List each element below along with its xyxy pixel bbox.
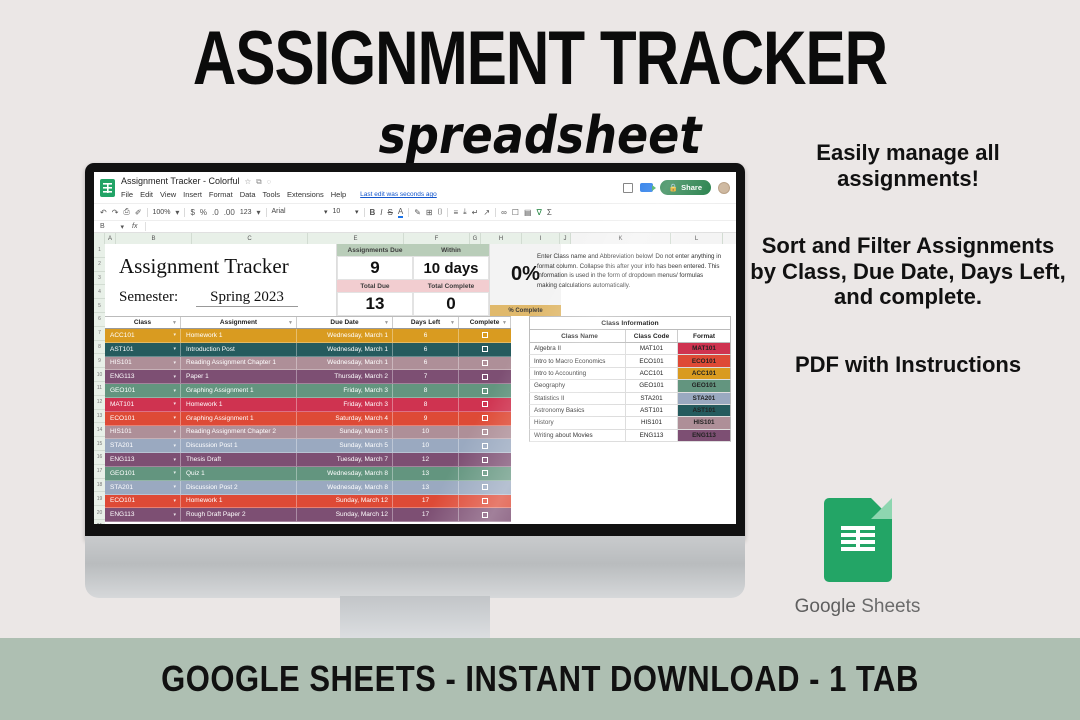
cell-complete[interactable] bbox=[459, 398, 511, 412]
row-number[interactable]: 8 bbox=[94, 341, 105, 355]
cell-assignment[interactable]: Introduction Post bbox=[181, 343, 297, 357]
zoom-level[interactable]: 100% bbox=[153, 209, 171, 216]
cell-due-date[interactable]: Saturday, March 4 bbox=[297, 412, 393, 426]
column-header-c[interactable]: C bbox=[192, 233, 308, 244]
menu-item-extensions[interactable]: Extensions bbox=[287, 190, 324, 199]
dropdown-caret-icon[interactable]: ▾ bbox=[173, 484, 176, 490]
cell-class-name[interactable]: Geography bbox=[530, 380, 626, 391]
cell-days-left: 6 bbox=[393, 329, 459, 343]
cell-complete[interactable] bbox=[459, 357, 511, 371]
cell-format-swatch: AST101 bbox=[678, 405, 730, 416]
cell-due-date[interactable]: Friday, March 3 bbox=[297, 384, 393, 398]
filter-icon[interactable]: ▼ bbox=[288, 320, 293, 326]
hero-header: ASSIGNMENT TRACKER spreadsheet bbox=[0, 0, 1080, 162]
cell-class-name[interactable]: Statistics II bbox=[530, 393, 626, 404]
cell-format-swatch: ACC101 bbox=[678, 368, 730, 379]
print-icon[interactable]: ⎙ bbox=[123, 207, 129, 217]
row-number-gutter: 1 2 3 4 5 6 7 8 9 10 11 12 13 14 bbox=[94, 244, 105, 524]
cell-assignment[interactable]: Rough Draft Paper 2 bbox=[181, 508, 297, 522]
dropdown-caret-icon[interactable]: ▾ bbox=[173, 332, 176, 338]
google-sheets-brand: Google Sheets bbox=[755, 498, 960, 618]
row-number[interactable]: 9 bbox=[94, 354, 105, 368]
cell-due-date[interactable]: Wednesday, March 1 bbox=[297, 357, 393, 371]
marketing-line-3: PDF with Instructions bbox=[748, 352, 1068, 378]
row-number[interactable]: 5 bbox=[94, 299, 105, 313]
cell-assignment[interactable]: Graphing Assignment 1 bbox=[181, 412, 297, 426]
cell-class-code[interactable]: GEO101 bbox=[626, 380, 678, 391]
text-rotation-icon[interactable]: ↗ bbox=[483, 208, 490, 217]
dropdown-caret-icon[interactable]: ▾ bbox=[173, 346, 176, 352]
column-header-class[interactable]: Class ▼ bbox=[105, 317, 181, 328]
font-size-value: 10 bbox=[333, 208, 341, 216]
paint-format-icon[interactable]: ✐ bbox=[135, 208, 142, 217]
decrease-decimal-icon[interactable]: .0 bbox=[212, 208, 219, 217]
header-label: Due Date bbox=[330, 319, 358, 326]
star-icon[interactable]: ☆ bbox=[245, 176, 252, 187]
cell-days-left: 17 bbox=[393, 508, 459, 522]
row-number[interactable]: 7 bbox=[94, 327, 105, 341]
row-number[interactable]: 4 bbox=[94, 285, 105, 299]
table-row[interactable]: GEO101▾Graphing Assignment 1Friday, Marc… bbox=[105, 384, 511, 398]
column-headers: A B C E F G H I J K L M bbox=[94, 233, 736, 244]
checkbox[interactable] bbox=[482, 443, 488, 449]
font-size-select[interactable]: 10 ▾ bbox=[333, 208, 359, 216]
cell-due-date[interactable]: Wednesday, March 1 bbox=[297, 329, 393, 343]
cell-complete[interactable] bbox=[459, 370, 511, 384]
number-format-menu[interactable]: 123 bbox=[240, 209, 252, 216]
monitor-bezel: Assignment Tracker - Colorful ☆ ⧉ ◌ File… bbox=[85, 163, 745, 540]
cell-class-text: ENG113 bbox=[110, 456, 134, 463]
stat-label: Within bbox=[413, 244, 489, 256]
cell-days-left: 9 bbox=[393, 412, 459, 426]
cell-complete[interactable] bbox=[459, 467, 511, 481]
filter-icon[interactable]: ▼ bbox=[502, 320, 507, 326]
checkbox[interactable] bbox=[482, 415, 488, 421]
cell-due-date[interactable]: Thursday, March 2 bbox=[297, 370, 393, 384]
row-number[interactable]: 21 bbox=[94, 520, 105, 524]
cell-complete[interactable] bbox=[459, 412, 511, 426]
dropdown-caret-icon[interactable]: ▾ bbox=[173, 388, 176, 394]
cell-class-name[interactable]: History bbox=[530, 417, 626, 428]
percent-icon[interactable]: % bbox=[200, 208, 207, 217]
google-sheets-wordmark: Google Sheets bbox=[755, 596, 960, 618]
italic-icon[interactable]: I bbox=[380, 208, 382, 217]
vertical-align-icon[interactable]: ⤓ bbox=[463, 207, 467, 217]
assignments-table-header: Class ▼ Assignment ▼ Due Date ▼ bbox=[105, 316, 511, 329]
marketing-line-2: Sort and Filter Assignments by Class, Du… bbox=[748, 233, 1068, 310]
menu-item-help[interactable]: Help bbox=[331, 190, 346, 199]
cell-class-name[interactable]: Intro to Accounting bbox=[530, 368, 626, 379]
column-header-h[interactable]: H bbox=[481, 233, 522, 244]
name-box[interactable]: B ▾ bbox=[100, 223, 124, 231]
cell-class-code[interactable]: ENG113 bbox=[626, 430, 678, 441]
row-number[interactable]: 16 bbox=[94, 451, 105, 465]
checkbox[interactable] bbox=[482, 512, 488, 518]
table-row[interactable]: GEO101▾Quiz 1Wednesday, March 813 bbox=[105, 467, 511, 481]
toolbar-divider bbox=[447, 208, 448, 217]
table-row[interactable]: ECO101▾Homework 1Sunday, March 1217 bbox=[105, 495, 511, 509]
dropdown-caret-icon[interactable]: ▾ bbox=[173, 401, 176, 407]
document-name[interactable]: Assignment Tracker - Colorful bbox=[121, 176, 240, 187]
menu-item-tools[interactable]: Tools bbox=[263, 190, 281, 199]
filter-icon[interactable]: ▼ bbox=[450, 320, 455, 326]
cell-class[interactable]: HIS101▾ bbox=[105, 426, 181, 440]
chevron-down-icon[interactable]: ▾ bbox=[257, 208, 261, 217]
table-row[interactable]: AST101▾Introduction PostWednesday, March… bbox=[105, 343, 511, 357]
cell-complete[interactable] bbox=[459, 426, 511, 440]
filter-icon[interactable]: ▼ bbox=[172, 320, 177, 326]
menu-item-format[interactable]: Format bbox=[209, 190, 233, 199]
cell-class-code[interactable]: HIS101 bbox=[626, 417, 678, 428]
class-info-row[interactable]: GeographyGEO101GEO101 bbox=[529, 380, 731, 392]
text-wrap-icon[interactable]: ↵ bbox=[472, 208, 479, 217]
column-header-days-left[interactable]: Days Left ▼ bbox=[393, 317, 459, 328]
chevron-down-icon: ▾ bbox=[355, 208, 359, 216]
document-name-row[interactable]: Assignment Tracker - Colorful ☆ ⧉ ◌ bbox=[121, 176, 623, 187]
cell-class-text: AST101 bbox=[110, 346, 134, 353]
redo-icon[interactable]: ↷ bbox=[112, 208, 119, 217]
column-header-k[interactable]: K bbox=[571, 233, 671, 244]
stat-value: 0 bbox=[413, 292, 489, 316]
cell-due-date[interactable]: Wednesday, March 8 bbox=[297, 481, 393, 495]
row-number[interactable]: 19 bbox=[94, 492, 105, 506]
checkbox[interactable] bbox=[482, 401, 488, 407]
cell-complete[interactable] bbox=[459, 329, 511, 343]
monitor-stand-neck bbox=[85, 536, 745, 598]
menu-item-edit[interactable]: Edit bbox=[140, 190, 153, 199]
screen: Assignment Tracker - Colorful ☆ ⧉ ◌ File… bbox=[94, 172, 736, 524]
table-row[interactable]: HIS101▾Reading Assignment Chapter 1Wedne… bbox=[105, 357, 511, 371]
cell-assignment[interactable]: Quiz 1 bbox=[181, 467, 297, 481]
cell-assignment[interactable]: Reading Assignment Chapter 2 bbox=[181, 426, 297, 440]
share-button-label: Share bbox=[681, 183, 702, 192]
cell-class-text: STA201 bbox=[110, 442, 133, 449]
cell-assignment[interactable]: Homework 1 bbox=[181, 495, 297, 509]
toolbar-divider bbox=[364, 208, 365, 217]
last-edit-link[interactable]: Last edit was seconds ago bbox=[360, 191, 437, 198]
sheet-content: Assignment Tracker Semester: Spring 2023… bbox=[105, 244, 736, 524]
undo-icon[interactable]: ↶ bbox=[100, 208, 107, 217]
class-info-row[interactable]: Statistics IISTA201STA201 bbox=[529, 393, 731, 405]
row-number[interactable]: 6 bbox=[94, 313, 105, 327]
cell-due-date[interactable]: Wednesday, March 8 bbox=[297, 467, 393, 481]
table-row[interactable]: STA201▾Discussion Post 1Sunday, March 51… bbox=[105, 439, 511, 453]
avatar[interactable] bbox=[718, 182, 730, 194]
checkbox[interactable] bbox=[482, 332, 488, 338]
semester-label: Semester: bbox=[119, 289, 178, 307]
cell-complete[interactable] bbox=[459, 495, 511, 509]
name-box-value: B bbox=[100, 223, 105, 231]
checkbox[interactable] bbox=[482, 484, 488, 490]
header-label: Complete bbox=[470, 319, 500, 326]
cell-assignment[interactable]: Thesis Draft bbox=[181, 453, 297, 467]
cell-class[interactable]: ENG113▾ bbox=[105, 508, 181, 522]
strikethrough-icon[interactable]: S bbox=[388, 208, 393, 217]
class-info-row[interactable]: Writing about MoviesENG113ENG113 bbox=[529, 430, 731, 442]
cell-days-left: 8 bbox=[393, 384, 459, 398]
column-header-assignment[interactable]: Assignment ▼ bbox=[181, 317, 297, 328]
checkbox[interactable] bbox=[482, 457, 488, 463]
insert-link-icon[interactable]: ∞ bbox=[501, 208, 507, 217]
stat-value: 9 bbox=[337, 256, 413, 280]
font-family-select[interactable]: Arial ▾ bbox=[272, 208, 328, 216]
cell-complete[interactable] bbox=[459, 343, 511, 357]
cell-class-name[interactable]: Writing about Movies bbox=[530, 430, 626, 441]
cell-class-text: ECO101 bbox=[110, 415, 135, 422]
row-number[interactable]: 3 bbox=[94, 272, 105, 286]
instructions-note: Enter Class name and Abbreviation below!… bbox=[529, 244, 731, 316]
cell-days-left: 6 bbox=[393, 357, 459, 371]
filter-icon[interactable]: ▼ bbox=[384, 320, 389, 326]
cell-class-text: MAT101 bbox=[110, 401, 134, 408]
checkbox[interactable] bbox=[482, 374, 488, 380]
cell-due-date[interactable]: Sunday, March 12 bbox=[297, 495, 393, 509]
footer-text: GOOGLE SHEETS - INSTANT DOWNLOAD - 1 TAB bbox=[161, 658, 919, 700]
filter-icon[interactable]: ∇ bbox=[537, 208, 542, 217]
cell-days-left: 10 bbox=[393, 439, 459, 453]
cell-due-date[interactable]: Wednesday, March 1 bbox=[297, 343, 393, 357]
cell-due-date[interactable]: Sunday, March 5 bbox=[297, 439, 393, 453]
cell-due-date[interactable]: Sunday, March 5 bbox=[297, 426, 393, 440]
class-info-row[interactable]: Astronomy BasicsAST101AST101 bbox=[529, 405, 731, 417]
cell-class[interactable]: ECO101▾ bbox=[105, 495, 181, 509]
cell-due-date[interactable]: Sunday, March 12 bbox=[297, 508, 393, 522]
cell-class[interactable]: MAT101▾ bbox=[105, 398, 181, 412]
cell-assignment[interactable]: Discussion Post 2 bbox=[181, 481, 297, 495]
stats-row-top: Assignments Due 9 Within 10 days bbox=[337, 244, 489, 280]
stat-value: 13 bbox=[337, 292, 413, 316]
dropdown-caret-icon[interactable]: ▾ bbox=[173, 498, 176, 504]
brand-word-sheets: Sheets bbox=[861, 596, 920, 617]
cell-days-left: 13 bbox=[393, 467, 459, 481]
semester-row: Semester: Spring 2023 bbox=[119, 289, 336, 307]
cell-assignment[interactable]: Homework 1 bbox=[181, 329, 297, 343]
cell-complete[interactable] bbox=[459, 384, 511, 398]
cell-class-code[interactable]: ACC101 bbox=[626, 368, 678, 379]
cell-class-text: STA201 bbox=[110, 484, 133, 491]
cell-class[interactable]: ENG113▾ bbox=[105, 370, 181, 384]
column-header-b[interactable]: B bbox=[116, 233, 192, 244]
increase-decimal-icon[interactable]: .00 bbox=[224, 208, 235, 217]
toolbar-divider bbox=[408, 208, 409, 217]
column-header-j[interactable]: J bbox=[560, 233, 571, 244]
cell-class[interactable]: GEO101▾ bbox=[105, 467, 181, 481]
page-title: ASSIGNMENT TRACKER bbox=[16, 22, 1064, 98]
comment-history-icon[interactable] bbox=[623, 183, 633, 193]
cell-class-text: ECO101 bbox=[110, 497, 135, 504]
stat-total-due: Total Due 13 bbox=[337, 280, 413, 316]
stat-label: Total Due bbox=[337, 280, 413, 292]
semester-value[interactable]: Spring 2023 bbox=[196, 289, 298, 307]
table-row[interactable]: STA201▾Discussion Post 2Wednesday, March… bbox=[105, 481, 511, 495]
google-sheets-logo-icon bbox=[824, 498, 892, 582]
marketing-line-1: Easily manage all assignments! bbox=[748, 140, 1068, 191]
cell-complete[interactable] bbox=[459, 453, 511, 467]
functions-icon[interactable]: Σ bbox=[547, 208, 552, 217]
cell-format-swatch: HIS101 bbox=[678, 417, 730, 428]
row-number[interactable]: 12 bbox=[94, 396, 105, 410]
cell-class[interactable]: HIS101▾ bbox=[105, 357, 181, 371]
column-header-i[interactable]: I bbox=[522, 233, 560, 244]
dropdown-caret-icon[interactable]: ▾ bbox=[173, 374, 176, 380]
table-row[interactable]: ENG113▾Rough Draft Paper 2Sunday, March … bbox=[105, 508, 511, 522]
share-button[interactable]: 🔒 Share bbox=[660, 180, 711, 195]
cell-class[interactable]: ENG113▾ bbox=[105, 453, 181, 467]
row-number[interactable]: 18 bbox=[94, 479, 105, 493]
class-info-row[interactable]: Intro to AccountingACC101ACC101 bbox=[529, 368, 731, 380]
cell-complete[interactable] bbox=[459, 439, 511, 453]
cell-days-left: 17 bbox=[393, 495, 459, 509]
stat-value[interactable]: 10 days bbox=[413, 256, 489, 280]
table-row[interactable]: ECO101▾Graphing Assignment 1Saturday, Ma… bbox=[105, 412, 511, 426]
fill-color-icon[interactable]: ✎ bbox=[414, 208, 421, 217]
cell-due-date[interactable]: Tuesday, March 7 bbox=[297, 453, 393, 467]
cell-class[interactable]: ACC101▾ bbox=[105, 329, 181, 343]
cell-days-left: 7 bbox=[393, 370, 459, 384]
table-row[interactable]: ACC101▾Homework 1Wednesday, March 16 bbox=[105, 329, 511, 343]
class-info-row[interactable]: Intro to Macro EconomicsECO101ECO101 bbox=[529, 355, 731, 367]
class-info-header: Class Name Class Code Format bbox=[529, 330, 731, 343]
cell-class-code[interactable]: MAT101 bbox=[626, 343, 678, 354]
cell-assignment[interactable]: Reading Assignment Chapter 1 bbox=[181, 357, 297, 371]
corner-select-all[interactable] bbox=[94, 233, 105, 244]
doc-title-block: Assignment Tracker - Colorful ☆ ⧉ ◌ File… bbox=[121, 176, 623, 199]
header-label: Class bbox=[134, 319, 151, 326]
cell-class-text: GEO101 bbox=[110, 470, 135, 477]
cell-class-code[interactable]: STA201 bbox=[626, 393, 678, 404]
column-header-m[interactable]: M bbox=[723, 233, 736, 244]
table-row[interactable]: ENG113▾Paper 1Thursday, March 27 bbox=[105, 370, 511, 384]
menu-item-file[interactable]: File bbox=[121, 190, 133, 199]
checkbox[interactable] bbox=[482, 498, 488, 504]
stat-label: Total Complete bbox=[413, 280, 489, 292]
cell-class-code[interactable]: ECO101 bbox=[626, 355, 678, 366]
cell-class-text: HIS101 bbox=[110, 428, 132, 435]
dashboard-title-block: Assignment Tracker Semester: Spring 2023 bbox=[105, 244, 337, 316]
cell-format-swatch: STA201 bbox=[678, 393, 730, 404]
dropdown-caret-icon[interactable]: ▾ bbox=[173, 429, 176, 435]
font-family-value: Arial bbox=[272, 208, 286, 216]
row-number[interactable]: 2 bbox=[94, 258, 105, 272]
column-header-g[interactable]: G bbox=[470, 233, 481, 244]
cell-class[interactable]: STA201▾ bbox=[105, 481, 181, 495]
class-information-panel: Enter Class name and Abbreviation below!… bbox=[529, 244, 731, 442]
cell-class-text: ENG113 bbox=[110, 511, 134, 518]
cell-days-left: 12 bbox=[393, 453, 459, 467]
cell-format-swatch: GEO101 bbox=[678, 380, 730, 391]
checkbox[interactable] bbox=[482, 388, 488, 394]
menu-item-data[interactable]: Data bbox=[240, 190, 256, 199]
insert-comment-icon[interactable]: ☐ bbox=[512, 208, 519, 217]
lock-icon: 🔒 bbox=[669, 183, 678, 192]
cell-class[interactable]: ECO101▾ bbox=[105, 412, 181, 426]
column-header-complete[interactable]: Complete ▼ bbox=[459, 317, 511, 328]
move-to-folder-icon[interactable]: ⧉ bbox=[256, 176, 261, 187]
google-meet-icon[interactable] bbox=[640, 183, 653, 192]
cell-class-text: ENG113 bbox=[110, 373, 134, 380]
insert-chart-icon[interactable]: ▤ bbox=[524, 208, 532, 217]
row-number[interactable]: 14 bbox=[94, 423, 105, 437]
checkbox[interactable] bbox=[482, 360, 488, 366]
currency-icon[interactable]: $ bbox=[190, 208, 194, 217]
cell-assignment[interactable]: Graphing Assignment 1 bbox=[181, 384, 297, 398]
dropdown-caret-icon[interactable]: ▾ bbox=[173, 415, 176, 421]
cell-assignment[interactable]: Paper 1 bbox=[181, 370, 297, 384]
row-number[interactable]: 1 bbox=[94, 244, 105, 258]
cell-class[interactable]: GEO101▾ bbox=[105, 384, 181, 398]
cell-class[interactable]: STA201▾ bbox=[105, 439, 181, 453]
cell-complete[interactable] bbox=[459, 508, 511, 522]
footer-banner: GOOGLE SHEETS - INSTANT DOWNLOAD - 1 TAB bbox=[0, 638, 1080, 720]
text-color-icon[interactable]: A bbox=[398, 207, 403, 218]
cell-class-name[interactable]: Astronomy Basics bbox=[530, 405, 626, 416]
dropdown-caret-icon[interactable]: ▾ bbox=[173, 443, 176, 449]
table-row[interactable]: MAT101▾Homework 1Friday, March 38 bbox=[105, 398, 511, 412]
cell-class-name[interactable]: Algebra II bbox=[530, 343, 626, 354]
chevron-down-icon[interactable]: ▾ bbox=[175, 208, 179, 217]
table-row[interactable]: HIS101▾Reading Assignment Chapter 2Sunda… bbox=[105, 426, 511, 440]
tracker-title: Assignment Tracker bbox=[119, 254, 336, 279]
dropdown-caret-icon[interactable]: ▾ bbox=[173, 360, 176, 366]
dropdown-caret-icon[interactable]: ▾ bbox=[173, 457, 176, 463]
dropdown-caret-icon[interactable]: ▾ bbox=[173, 470, 176, 476]
fx-icon: fx bbox=[132, 223, 137, 230]
horizontal-align-icon[interactable]: ≡ bbox=[453, 208, 458, 217]
checkbox[interactable] bbox=[482, 470, 488, 476]
cell-format-swatch: ECO101 bbox=[678, 355, 730, 366]
cell-assignment[interactable]: Homework 1 bbox=[181, 398, 297, 412]
cell-class-code[interactable]: AST101 bbox=[626, 405, 678, 416]
toolbar-divider bbox=[495, 208, 496, 217]
cell-due-date[interactable]: Friday, March 3 bbox=[297, 398, 393, 412]
formula-input[interactable] bbox=[145, 222, 730, 231]
borders-icon[interactable]: ⊞ bbox=[426, 208, 433, 217]
checkbox[interactable] bbox=[482, 346, 488, 352]
column-header-due-date[interactable]: Due Date ▼ bbox=[297, 317, 393, 328]
menu-item-insert[interactable]: Insert bbox=[183, 190, 202, 199]
row-number[interactable]: 15 bbox=[94, 437, 105, 451]
row-number[interactable]: 17 bbox=[94, 465, 105, 479]
cell-class-name[interactable]: Intro to Macro Economics bbox=[530, 355, 626, 366]
bold-icon[interactable]: B bbox=[370, 208, 376, 217]
sheets-grid-glyph bbox=[841, 526, 875, 556]
row-number[interactable]: 11 bbox=[94, 382, 105, 396]
cell-assignment[interactable]: Discussion Post 1 bbox=[181, 439, 297, 453]
row-number[interactable]: 13 bbox=[94, 410, 105, 424]
checkbox[interactable] bbox=[482, 429, 488, 435]
class-info-row[interactable]: Algebra IIMAT101MAT101 bbox=[529, 343, 731, 355]
menu-item-view[interactable]: View bbox=[160, 190, 176, 199]
dropdown-caret-icon[interactable]: ▾ bbox=[173, 512, 176, 518]
row-number[interactable]: 10 bbox=[94, 368, 105, 382]
dashboard-stats: Assignments Due 9 Within 10 days bbox=[337, 244, 489, 316]
column-header-f[interactable]: F bbox=[404, 233, 470, 244]
monitor-mockup: Assignment Tracker - Colorful ☆ ⧉ ◌ File… bbox=[85, 163, 745, 660]
column-header-l[interactable]: L bbox=[671, 233, 723, 244]
class-info-body: Algebra IIMAT101MAT101Intro to Macro Eco… bbox=[529, 343, 731, 442]
cell-class[interactable]: AST101▾ bbox=[105, 343, 181, 357]
marketing-copy: Easily manage all assignments! Sort and … bbox=[748, 140, 1068, 377]
table-row[interactable]: ENG113▾Thesis DraftTuesday, March 712 bbox=[105, 453, 511, 467]
sheets-header-bar: Assignment Tracker - Colorful ☆ ⧉ ◌ File… bbox=[94, 172, 736, 203]
header-actions: 🔒 Share bbox=[623, 180, 730, 195]
class-info-row[interactable]: HistoryHIS101HIS101 bbox=[529, 417, 731, 429]
row-number[interactable]: 20 bbox=[94, 506, 105, 520]
column-header-a[interactable]: A bbox=[105, 233, 116, 244]
merge-cells-icon[interactable]: ⌷ bbox=[438, 207, 443, 217]
cell-complete[interactable] bbox=[459, 481, 511, 495]
column-header-e[interactable]: E bbox=[308, 233, 404, 244]
